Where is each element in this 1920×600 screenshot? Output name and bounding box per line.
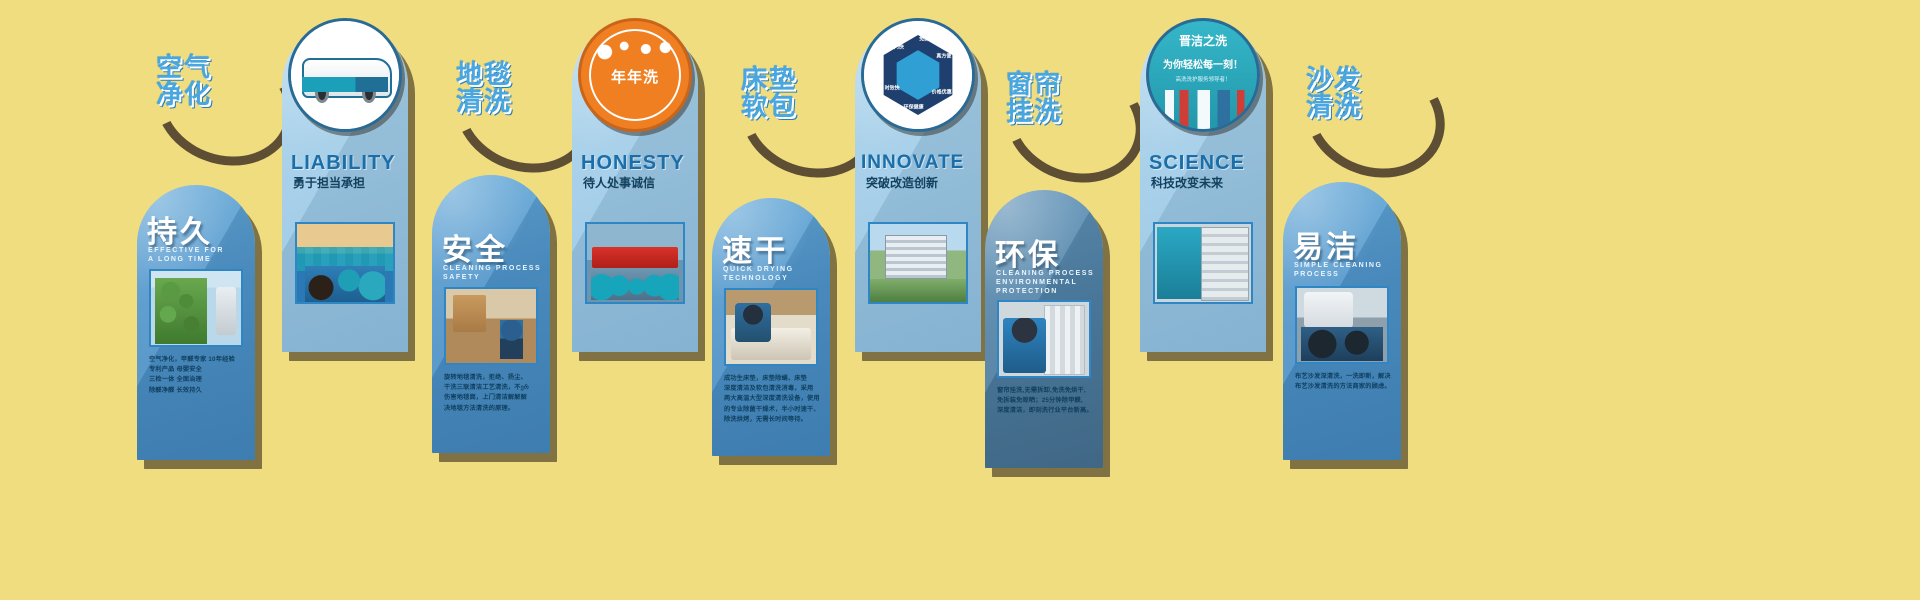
panel-innovate-chinese: 突破改造创新 bbox=[866, 174, 938, 191]
hex-label-0: 上门快 bbox=[889, 43, 904, 50]
panel-easyclean-title: 易洁 bbox=[1293, 222, 1359, 266]
panel-durable-photo[interactable] bbox=[149, 269, 243, 347]
hex-label-3: 价格优惠 bbox=[932, 89, 952, 96]
panel-liability-english: LIABILITY bbox=[291, 152, 396, 175]
panel-durable-body: 空气净化，甲醛专家 10年经验 专利产品 母婴安全 三检一体 全面治理 除醛净醛… bbox=[149, 355, 245, 396]
panel-science-chinese: 科技改变未来 bbox=[1151, 174, 1223, 191]
green-wall-air-purify-image bbox=[151, 271, 241, 345]
cleaning-tools-icon bbox=[581, 34, 689, 64]
curtain-removal-image bbox=[999, 302, 1089, 376]
panel-innovate-photo[interactable] bbox=[868, 222, 968, 304]
panel-easyclean[interactable]: 易洁 SIMPLE CLEANING PROCESS 布艺沙发深清洗，一洗即新，… bbox=[1283, 182, 1401, 460]
panel-safety[interactable]: 安全 CLEANING PROCESS SAFETY 旋转地毯清洗，拒绝、扬尘、… bbox=[432, 175, 550, 453]
city-skyline-icon bbox=[1158, 90, 1249, 129]
float-label-mattress-text: 床垫 软包 bbox=[741, 66, 797, 121]
van-wheel-rear bbox=[362, 83, 376, 103]
storefront-image bbox=[1155, 224, 1251, 302]
float-label-sofa: 沙发 清洗 bbox=[1300, 60, 1450, 190]
medallion-annual-cleaning-text: 年年洗 bbox=[581, 66, 689, 87]
brand-badge-slogan: 为你轻松每一刻！ bbox=[1149, 56, 1257, 71]
panel-quickdry-title: 速干 bbox=[722, 226, 788, 270]
service-van-image bbox=[291, 21, 399, 129]
panel-science-english: SCIENCE bbox=[1149, 152, 1245, 175]
panel-liability-chinese: 勇于担当承担 bbox=[293, 174, 365, 191]
panel-safety-english: CLEANING PROCESS SAFETY bbox=[443, 265, 541, 283]
panel-honesty-photo[interactable] bbox=[585, 222, 685, 304]
brand-badge-title: 晋洁之洗 bbox=[1149, 32, 1257, 49]
company-building-image bbox=[870, 224, 966, 302]
float-label-air: 空气 净化 bbox=[150, 48, 300, 178]
medallion-service-van[interactable] bbox=[288, 18, 402, 132]
panel-durable-english: EFFECTIVE FOR A LONG TIME bbox=[148, 247, 224, 265]
panel-honesty-chinese: 待人处事诚信 bbox=[583, 174, 655, 191]
panel-environment[interactable]: 环保 CLEANING PROCESS ENVIRONMENTAL PROTEC… bbox=[985, 190, 1103, 468]
float-label-curtain-text: 窗帘 挂洗 bbox=[1006, 71, 1062, 126]
panel-quickdry-english: QUICK DRYING TECHNOLOGY bbox=[723, 266, 794, 284]
mattress-cleaning-image bbox=[726, 290, 816, 364]
hex-label-5: 时效快 bbox=[885, 84, 900, 91]
panel-honesty-english: HONESTY bbox=[581, 152, 685, 175]
panel-safety-photo[interactable] bbox=[444, 287, 538, 365]
panel-environment-english: CLEANING PROCESS ENVIRONMENTAL PROTECTIO… bbox=[996, 270, 1094, 296]
panel-safety-body: 旋转地毯清洗，拒绝、扬尘、 干洗三联清洁工艺清洗，不ერ 伤害地毯面，上门清洁解… bbox=[444, 373, 540, 414]
float-label-air-text: 空气 净化 bbox=[156, 54, 212, 109]
panel-safety-title: 安全 bbox=[442, 225, 508, 269]
hex-label-4: 环保健康 bbox=[904, 104, 924, 111]
float-label-carpet-text: 地毯 清洗 bbox=[456, 61, 512, 116]
panel-innovate-english: INNOVATE bbox=[861, 152, 964, 174]
hex-label-1: 免拆装 bbox=[919, 36, 934, 43]
hex-badge-graphic: 上门快 免拆装 真方便 价格优惠 环保健康 时效快 bbox=[864, 21, 972, 129]
sofa-cleaning-image bbox=[1297, 288, 1387, 362]
panel-durable-title: 持久 bbox=[147, 207, 213, 251]
panel-environment-photo[interactable] bbox=[997, 300, 1091, 378]
medallion-brand-badge[interactable]: 晋洁之洗 为你轻松每一刻！ 高洗洗护服务领导者！ bbox=[1146, 18, 1260, 132]
panel-science-photo[interactable] bbox=[1153, 222, 1253, 304]
panel-quickdry-body: 成功生床垫，床垫除螨、床垫 深度清洁及软包清洗消毒，采用 两大高温大型深度清洗设… bbox=[724, 374, 820, 425]
medallion-annual-cleaning[interactable]: 年年洗 bbox=[578, 18, 692, 132]
staff-training-meeting-image bbox=[297, 224, 393, 302]
panel-easyclean-english: SIMPLE CLEANING PROCESS bbox=[1294, 262, 1383, 280]
hex-label-2: 真方便 bbox=[936, 52, 951, 59]
medallion-innovation-hex[interactable]: 上门快 免拆装 真方便 价格优惠 环保健康 时效快 bbox=[861, 18, 975, 132]
brand-badge-subslogan: 高洗洗护服务领导者！ bbox=[1149, 75, 1257, 83]
van-wheel-front bbox=[315, 83, 329, 103]
panel-easyclean-body: 布艺沙发深清洗，一洗即新，解决 布艺沙发清洗的方法商家的顾虑。 bbox=[1295, 372, 1391, 392]
panel-quickdry-photo[interactable] bbox=[724, 288, 818, 366]
float-label-sofa-text: 沙发 清洗 bbox=[1306, 66, 1362, 121]
panel-environment-title: 环保 bbox=[995, 230, 1061, 274]
panel-environment-body: 窗帘挂洗,无需拆卸,免洗免烘干, 免拆装免晾晒；25分钟除甲醛, 深度清洁，即刻… bbox=[997, 386, 1093, 417]
culture-wall-poster: 空气 净化 持久 EFFECTIVE FOR A LONG TIME 空气净化，… bbox=[0, 0, 1920, 600]
carpet-cleaning-image bbox=[446, 289, 536, 363]
panel-easyclean-photo[interactable] bbox=[1295, 286, 1389, 364]
panel-quickdry[interactable]: 速干 QUICK DRYING TECHNOLOGY 成功生床垫，床垫除螨、床垫… bbox=[712, 198, 830, 456]
float-label-curtain: 窗帘 挂洗 bbox=[1000, 65, 1150, 195]
panel-liability-photo[interactable] bbox=[295, 222, 395, 304]
training-class-banner-image bbox=[587, 224, 683, 302]
panel-durable[interactable]: 持久 EFFECTIVE FOR A LONG TIME 空气净化，甲醛专家 1… bbox=[137, 185, 255, 460]
